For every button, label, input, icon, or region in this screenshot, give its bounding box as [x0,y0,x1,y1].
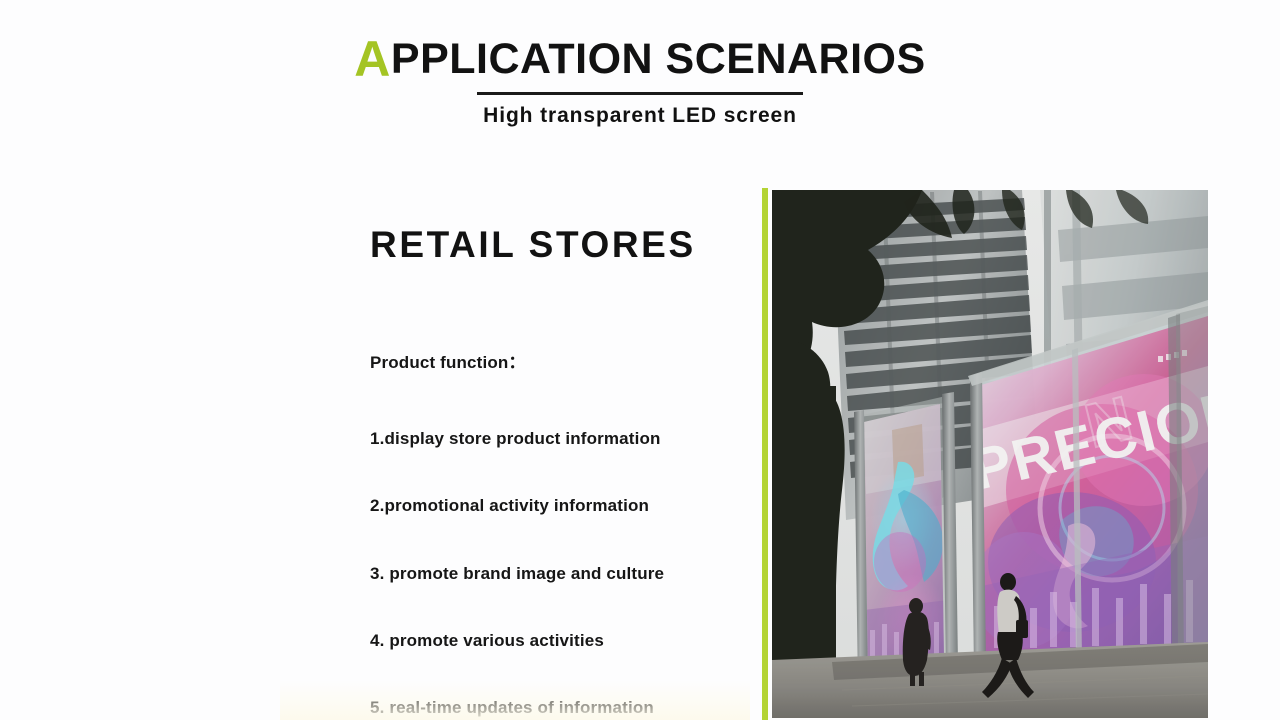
product-function-list: 1.display store product information 2.pr… [370,429,750,719]
content-column: RETAIL STORES Product function： 1.displa… [370,226,750,719]
list-item: 1.display store product information [370,429,750,449]
list-item: 5. real-time updates of information [370,698,750,718]
title-drop-cap: A [354,31,391,87]
page-subtitle: High transparent LED screen [0,104,1280,128]
page-title: APPLICATION SCENARIOS [0,34,1280,84]
scenario-photo: PRECION N [772,190,1208,718]
list-item: 4. promote various activities [370,631,750,651]
list-item: 2.promotional activity information [370,496,750,516]
product-function-label: Product function： [370,348,750,373]
photo-illustration: PRECION N [772,190,1208,718]
accent-bar [762,188,768,720]
title-divider [477,92,803,95]
list-item: 3. promote brand image and culture [370,564,750,584]
title-remainder: PPLICATION SCENARIOS [391,35,926,83]
section-heading: RETAIL STORES [370,226,750,265]
slide-header: APPLICATION SCENARIOS High transparent L… [0,34,1280,128]
photo-block: PRECION N [762,188,1208,720]
slide-root: APPLICATION SCENARIOS High transparent L… [0,0,1280,720]
